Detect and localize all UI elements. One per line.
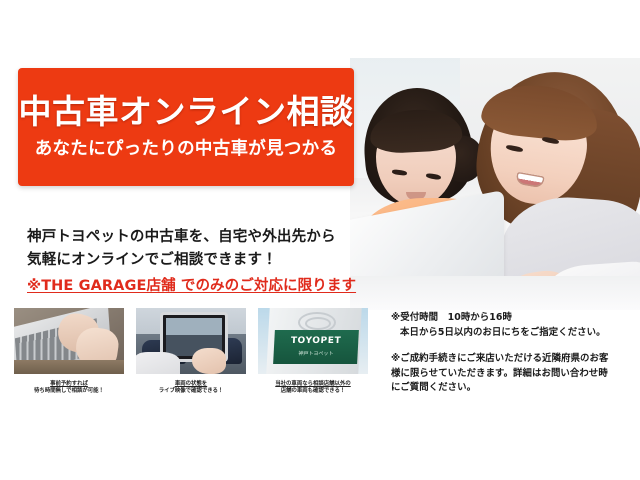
note-hours-line-2: 本日から5日以内のお日にちをご指定ください。 — [391, 326, 634, 341]
desk-surface — [350, 276, 640, 310]
toyopet-wordmark: TOYOPET — [280, 336, 353, 346]
caption-bottom: 店舗の車両も確認できる！ — [258, 388, 368, 395]
hero-photo-mother-daughter-laptop — [350, 58, 640, 310]
thumb2-hand — [192, 348, 226, 374]
lead-line-2: 気軽にオンラインでご相談できます！ — [27, 249, 347, 272]
feature-thumbnail-row: 事前予約すれば 待ち時間無しで相談が可能！ 車両の状態を ライブ映像で確認できる… — [14, 308, 370, 396]
thumbnail-item-live-video: 車両の状態を ライブ映像で確認できる！ — [136, 308, 246, 396]
thumbnail-item-reservation: 事前予約すれば 待ち時間無しで相談が可能！ — [14, 308, 124, 396]
note-area-line-1: ※ご成約手続きにご来店いただける近隣府県のお客 — [391, 352, 634, 367]
banner-subtitle: あなたにぴったりの中古車が見つかる — [35, 140, 338, 159]
thumb1-desk — [14, 360, 124, 374]
promotional-banner-page: 中古車オンライン相談 あなたにぴったりの中古車が見つかる 神戸トヨペットの中古車… — [0, 0, 640, 480]
lead-line-1: 神戸トヨペットの中古車を、自宅や外出先から — [27, 226, 347, 249]
thumbnail-caption: 事前予約すれば 待ち時間無しで相談が可能！ — [14, 381, 124, 396]
caption-bottom: 待ち時間無しで相談が可能！ — [14, 388, 124, 395]
note-contract-area: ※ご成約手続きにご来店いただける近隣府県のお客 様に限らせていただきます。詳細は… — [391, 352, 634, 397]
terms-notes: ※受付時間 10時から16時 本日から5日以内のお日にちをご指定ください。 ※ご… — [391, 311, 634, 407]
tablet-live-video-cars-photo — [136, 308, 246, 374]
note-hours-line-1: ※受付時間 10時から16時 — [391, 311, 634, 326]
thumbnail-item-other-stores: TOYOPET 神戸トヨペット 当社の車両なら相談店舗以外の 店舗の車両も確認で… — [258, 308, 368, 396]
thumb2-arm — [136, 352, 180, 374]
toyopet-store-name: 神戸トヨペット — [280, 350, 352, 357]
note-area-line-3: にご質問ください。 — [391, 381, 634, 396]
caption-bottom: ライブ映像で確認できる！ — [136, 388, 246, 395]
banner-title: 中古車オンライン相談 — [19, 95, 354, 130]
note-area-line-2: 様に限らせていただきます。詳細はお問い合わせ時 — [391, 367, 634, 382]
thumbnail-caption: 当社の車両なら相談店舗以外の 店舗の車両も確認できる！ — [258, 381, 368, 396]
garage-restriction-note: ※THE GARAGE店舗 でのみのご対応に限ります — [27, 275, 347, 298]
thumbnail-caption: 車両の状態を ライブ映像で確認できる！ — [136, 381, 246, 396]
lead-copy: 神戸トヨペットの中古車を、自宅や外出先から 気軽にオンラインでご相談できます！ … — [27, 226, 347, 298]
toyopet-sign-photo: TOYOPET 神戸トヨペット — [258, 308, 368, 374]
headline-banner: 中古車オンライン相談 あなたにぴったりの中古車が見つかる — [18, 68, 354, 186]
note-reception-hours: ※受付時間 10時から16時 本日から5日以内のお日にちをご指定ください。 — [391, 311, 634, 341]
hands-typing-laptop-photo — [14, 308, 124, 374]
